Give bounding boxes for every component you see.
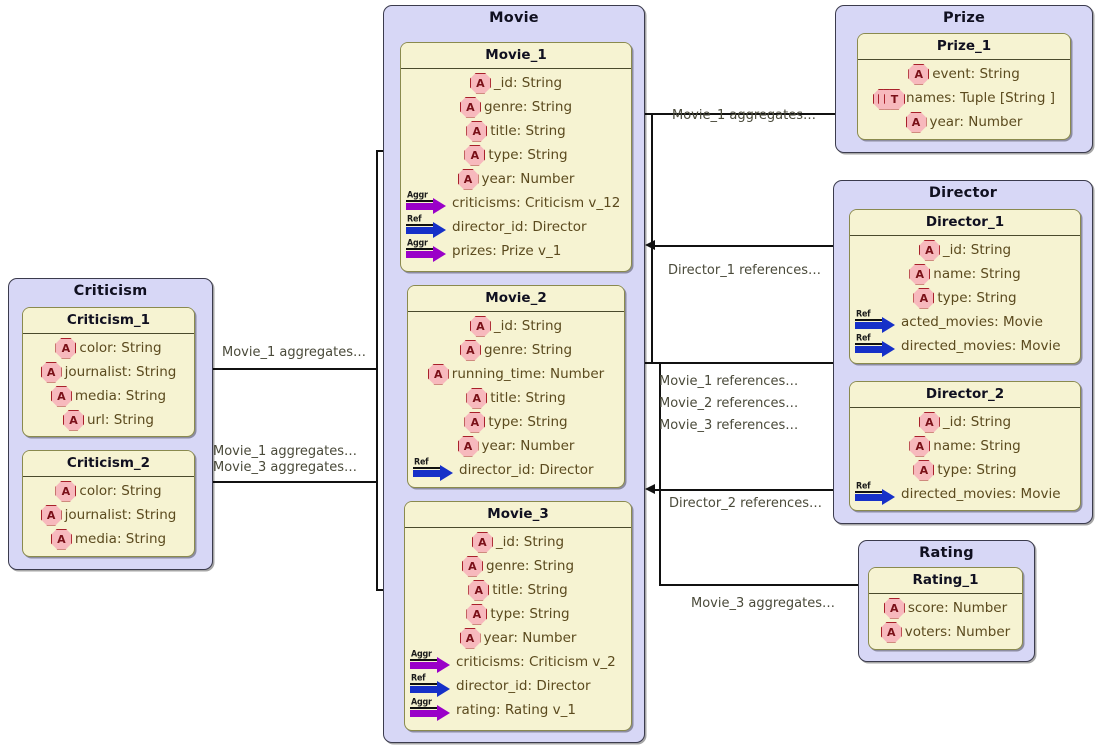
- attribute-row: Refdirector_id: Director: [405, 674, 631, 698]
- attribute-label: criticisms: Criticism v_2: [456, 654, 616, 670]
- attribute-icon: A: [51, 386, 72, 407]
- entity-rating-1[interactable]: Rating_1 Ascore: NumberAvoters: Number: [868, 567, 1023, 650]
- aggregation-arrow-icon: Aggr: [405, 240, 449, 262]
- edge-line-director2-movie2: [653, 489, 853, 491]
- attribute-label: url: String: [87, 412, 154, 428]
- attribute-label: _id: String: [943, 242, 1011, 258]
- aggregation-arrow-icon: Aggr: [405, 192, 449, 214]
- reference-arrow-icon: Ref: [405, 216, 449, 238]
- attribute-icon: A: [464, 412, 485, 433]
- entity-prize-1-attrs: Aevent: StringTnames: Tuple [String ]Aye…: [858, 60, 1070, 136]
- attribute-icon: A: [913, 460, 934, 481]
- attribute-icon: A: [908, 64, 929, 85]
- attribute-icon: A: [881, 622, 902, 643]
- attribute-icon: A: [919, 412, 940, 433]
- attribute-row: Aggrcriticisms: Criticism v_2: [405, 650, 631, 674]
- attribute-row: Refdirected_movies: Movie: [850, 482, 1080, 506]
- reference-arrow-icon: Ref: [854, 311, 898, 333]
- attribute-icon: A: [460, 340, 481, 361]
- edge-line-movie-criticism2: [205, 481, 377, 483]
- attribute-label: journalist: String: [65, 364, 177, 380]
- entity-director-2-title: Director_2: [850, 382, 1080, 408]
- arrow-badge-tag: Aggr: [411, 696, 432, 706]
- attribute-label: title: String: [490, 123, 566, 139]
- attribute-label: voters: Number: [905, 624, 1011, 640]
- attribute-label: running_time: Number: [452, 366, 604, 382]
- attribute-label: prizes: Prize v_1: [452, 243, 561, 259]
- entity-movie-3-attrs: A_id: StringAgenre: StringAtitle: String…: [405, 528, 631, 724]
- arrow-badge-tag: Ref: [407, 213, 421, 223]
- tuple-octagon-3: T: [884, 89, 905, 110]
- attribute-icon: A: [470, 316, 491, 337]
- edge-label-movie3-aggregates-rating: Movie_3 aggregates…: [691, 595, 835, 612]
- attribute-row: A_id: String: [405, 530, 631, 554]
- attribute-row: Atitle: String: [405, 578, 631, 602]
- edge-label-movie2-references: Movie_2 references…: [659, 395, 798, 412]
- group-director-title: Director: [834, 185, 1092, 201]
- attribute-icon: A: [472, 532, 493, 553]
- edge-label-movie3-references: Movie_3 references…: [659, 417, 798, 434]
- group-movie-title: Movie: [384, 10, 644, 26]
- entity-criticism-1-title: Criticism_1: [23, 308, 194, 334]
- attribute-icon: A: [468, 580, 489, 601]
- attribute-row: Agenre: String: [408, 338, 624, 362]
- attribute-row: Ayear: Number: [408, 434, 624, 458]
- attribute-label: name: String: [933, 438, 1020, 454]
- diagram-canvas: Movie_1 aggregates… Director_1 reference…: [0, 0, 1099, 747]
- attribute-label: type: String: [937, 462, 1016, 478]
- edge-arrow-director2-movie2: [645, 484, 655, 494]
- attribute-label: director_id: Director: [459, 462, 594, 478]
- entity-criticism-2[interactable]: Criticism_2 Acolor: StringAjournalist: S…: [22, 450, 195, 557]
- attribute-label: year: Number: [482, 438, 575, 454]
- attribute-label: type: String: [937, 290, 1016, 306]
- edge-label-movie1-aggregates-criticism1: Movie_1 aggregates…: [222, 344, 366, 361]
- edge-bus-movie-left: [376, 150, 378, 590]
- attribute-row: Tnames: Tuple [String ]: [858, 86, 1070, 110]
- attribute-row: A_id: String: [850, 238, 1080, 262]
- attribute-icon: A: [470, 73, 491, 94]
- edge-line-director1-movie1: [653, 245, 845, 247]
- arrow-badge-tag: Aggr: [411, 648, 432, 658]
- attribute-icon: A: [464, 145, 485, 166]
- attribute-row: Ajournalist: String: [23, 503, 194, 527]
- attribute-label: rating: Rating v_1: [456, 702, 576, 718]
- attribute-icon: A: [63, 410, 84, 431]
- edge-label-movie1-references: Movie_1 references…: [659, 373, 798, 390]
- arrow-badge-tag: Ref: [856, 332, 870, 342]
- arrow-badge-tag: Aggr: [407, 237, 428, 247]
- entity-movie-1[interactable]: Movie_1 A_id: StringAgenre: StringAtitle…: [400, 42, 632, 272]
- reference-arrow-icon: Ref: [854, 335, 898, 357]
- attribute-row: Refdirected_movies: Movie: [850, 334, 1080, 358]
- entity-movie-3-title: Movie_3: [405, 502, 631, 528]
- entity-prize-1-title: Prize_1: [858, 34, 1070, 60]
- edge-feeder-movie1-director: [651, 113, 653, 363]
- attribute-label: year: Number: [930, 114, 1023, 130]
- attribute-row: Arunning_time: Number: [408, 362, 624, 386]
- attribute-label: genre: String: [484, 99, 572, 115]
- attribute-label: _id: String: [494, 75, 562, 91]
- attribute-row: Ayear: Number: [858, 110, 1070, 134]
- attribute-icon: A: [906, 112, 927, 133]
- attribute-icon: A: [466, 121, 487, 142]
- edge-label-movie1-aggregates-prize: Movie_1 aggregates…: [672, 107, 816, 124]
- group-rating-title: Rating: [859, 545, 1034, 561]
- attribute-label: directed_movies: Movie: [901, 338, 1061, 354]
- attribute-row: Refdirector_id: Director: [401, 215, 631, 239]
- arrow-badge-tag: Aggr: [407, 189, 428, 199]
- entity-movie-2-attrs: A_id: StringAgenre: StringArunning_time:…: [408, 312, 624, 484]
- attribute-label: type: String: [490, 606, 569, 622]
- attribute-icon: A: [41, 362, 62, 383]
- attribute-row: Refacted_movies: Movie: [850, 310, 1080, 334]
- attribute-label: journalist: String: [65, 507, 177, 523]
- attribute-icon: A: [41, 505, 62, 526]
- attribute-label: color: String: [79, 340, 161, 356]
- entity-prize-1[interactable]: Prize_1 Aevent: StringTnames: Tuple [Str…: [857, 33, 1071, 140]
- attribute-label: director_id: Director: [452, 219, 587, 235]
- attribute-row: Atype: String: [850, 286, 1080, 310]
- attribute-row: A_id: String: [401, 71, 631, 95]
- attribute-row: Aname: String: [850, 262, 1080, 286]
- aggregation-arrow-icon: Aggr: [409, 699, 453, 721]
- attribute-icon: A: [428, 364, 449, 385]
- attribute-row: Aurl: String: [23, 408, 194, 432]
- attribute-label: criticisms: Criticism v_12: [452, 195, 620, 211]
- attribute-row: A_id: String: [408, 314, 624, 338]
- edge-line-movie3-rating: [659, 584, 871, 586]
- attribute-label: genre: String: [484, 342, 572, 358]
- attribute-icon: A: [51, 529, 72, 550]
- attribute-row: A_id: String: [850, 410, 1080, 434]
- attribute-label: title: String: [492, 582, 568, 598]
- attribute-label: score: Number: [908, 600, 1007, 616]
- attribute-icon: A: [462, 556, 483, 577]
- entity-director-1[interactable]: Director_1 A_id: StringAname: StringAtyp…: [849, 209, 1081, 364]
- attribute-label: type: String: [488, 414, 567, 430]
- attribute-row: Aggrcriticisms: Criticism v_12: [401, 191, 631, 215]
- attribute-row: Atype: String: [408, 410, 624, 434]
- reference-arrow-icon: Ref: [854, 483, 898, 505]
- entity-criticism-1-attrs: Acolor: StringAjournalist: StringAmedia:…: [23, 334, 194, 434]
- attribute-icon: A: [466, 388, 487, 409]
- attribute-row: Atitle: String: [401, 119, 631, 143]
- attribute-row: Aname: String: [850, 434, 1080, 458]
- attribute-icon: A: [460, 628, 481, 649]
- attribute-label: year: Number: [482, 171, 575, 187]
- entity-movie-2-title: Movie_2: [408, 286, 624, 312]
- attribute-row: Avoters: Number: [869, 620, 1022, 644]
- attribute-label: event: String: [932, 66, 1020, 82]
- group-prize-title: Prize: [836, 10, 1092, 26]
- attribute-label: _id: String: [496, 534, 564, 550]
- edge-label-movie1-aggregates-criticism2: Movie_1 aggregates…: [213, 443, 357, 460]
- attribute-row: Aggrrating: Rating v_1: [405, 698, 631, 722]
- attribute-icon: A: [884, 598, 905, 619]
- entity-director-1-title: Director_1: [850, 210, 1080, 236]
- reference-arrow-icon: Ref: [412, 459, 456, 481]
- edge-label-director2-references: Director_2 references…: [669, 495, 822, 512]
- entity-movie-3[interactable]: Movie_3 A_id: StringAgenre: StringAtitle…: [404, 501, 632, 731]
- attribute-row: Ayear: Number: [401, 167, 631, 191]
- tuple-icon: T: [873, 89, 903, 108]
- attribute-row: Agenre: String: [401, 95, 631, 119]
- attribute-icon: A: [913, 288, 934, 309]
- attribute-row: Atype: String: [850, 458, 1080, 482]
- edge-line-movie1-criticism1: [205, 368, 377, 370]
- attribute-label: media: String: [75, 388, 166, 404]
- attribute-label: directed_movies: Movie: [901, 486, 1061, 502]
- attribute-icon: A: [458, 169, 479, 190]
- attribute-label: _id: String: [494, 318, 562, 334]
- attribute-row: Refdirector_id: Director: [408, 458, 624, 482]
- attribute-label: type: String: [488, 147, 567, 163]
- attribute-label: name: String: [933, 266, 1020, 282]
- attribute-label: _id: String: [943, 414, 1011, 430]
- attribute-row: Agenre: String: [405, 554, 631, 578]
- arrow-badge-tag: Ref: [411, 672, 425, 682]
- attribute-label: media: String: [75, 531, 166, 547]
- attribute-icon: A: [909, 264, 930, 285]
- entity-rating-1-attrs: Ascore: NumberAvoters: Number: [869, 594, 1022, 646]
- entity-criticism-1[interactable]: Criticism_1 Acolor: StringAjournalist: S…: [22, 307, 195, 437]
- entity-director-2-attrs: A_id: StringAname: StringAtype: StringRe…: [850, 408, 1080, 508]
- aggregation-arrow-icon: Aggr: [409, 651, 453, 673]
- arrow-badge-tag: Ref: [856, 308, 870, 318]
- attribute-row: Aevent: String: [858, 62, 1070, 86]
- attribute-row: Acolor: String: [23, 479, 194, 503]
- entity-criticism-2-attrs: Acolor: StringAjournalist: StringAmedia:…: [23, 477, 194, 553]
- edge-line-movies-director1: [628, 362, 846, 364]
- attribute-row: Acolor: String: [23, 336, 194, 360]
- attribute-row: Amedia: String: [23, 527, 194, 551]
- attribute-label: genre: String: [486, 558, 574, 574]
- attribute-row: Ajournalist: String: [23, 360, 194, 384]
- entity-criticism-2-title: Criticism_2: [23, 451, 194, 477]
- attribute-row: Amedia: String: [23, 384, 194, 408]
- attribute-row: Atype: String: [401, 143, 631, 167]
- group-criticism-title: Criticism: [9, 283, 212, 299]
- edge-label-director1-references: Director_1 references…: [668, 262, 821, 279]
- entity-movie-1-attrs: A_id: StringAgenre: StringAtitle: String…: [401, 69, 631, 265]
- attribute-icon: A: [55, 338, 76, 359]
- attribute-row: Atitle: String: [408, 386, 624, 410]
- attribute-icon: A: [460, 97, 481, 118]
- attribute-icon: A: [466, 604, 487, 625]
- arrow-badge-tag: Ref: [856, 480, 870, 490]
- attribute-row: Ayear: Number: [405, 626, 631, 650]
- attribute-row: Ascore: Number: [869, 596, 1022, 620]
- attribute-row: Atype: String: [405, 602, 631, 626]
- entity-movie-1-title: Movie_1: [401, 43, 631, 69]
- entity-director-2[interactable]: Director_2 A_id: StringAname: StringAtyp…: [849, 381, 1081, 511]
- edge-arrow-director1-movie1: [645, 240, 655, 250]
- attribute-label: title: String: [490, 390, 566, 406]
- attribute-label: names: Tuple [String ]: [906, 90, 1055, 106]
- attribute-label: year: Number: [484, 630, 577, 646]
- reference-arrow-icon: Ref: [409, 675, 453, 697]
- entity-movie-2[interactable]: Movie_2 A_id: StringAgenre: StringArunni…: [407, 285, 625, 488]
- attribute-label: director_id: Director: [456, 678, 591, 694]
- attribute-label: acted_movies: Movie: [901, 314, 1043, 330]
- attribute-icon: A: [919, 240, 940, 261]
- attribute-label: color: String: [79, 483, 161, 499]
- arrow-badge-tag: Ref: [414, 456, 428, 466]
- attribute-icon: A: [55, 481, 76, 502]
- attribute-icon: A: [458, 436, 479, 457]
- edge-label-movie3-aggregates-criticism2: Movie_3 aggregates…: [213, 459, 357, 476]
- attribute-icon: A: [909, 436, 930, 457]
- attribute-row: Aggrprizes: Prize v_1: [401, 239, 631, 263]
- entity-rating-1-title: Rating_1: [869, 568, 1022, 594]
- entity-director-1-attrs: A_id: StringAname: StringAtype: StringRe…: [850, 236, 1080, 360]
